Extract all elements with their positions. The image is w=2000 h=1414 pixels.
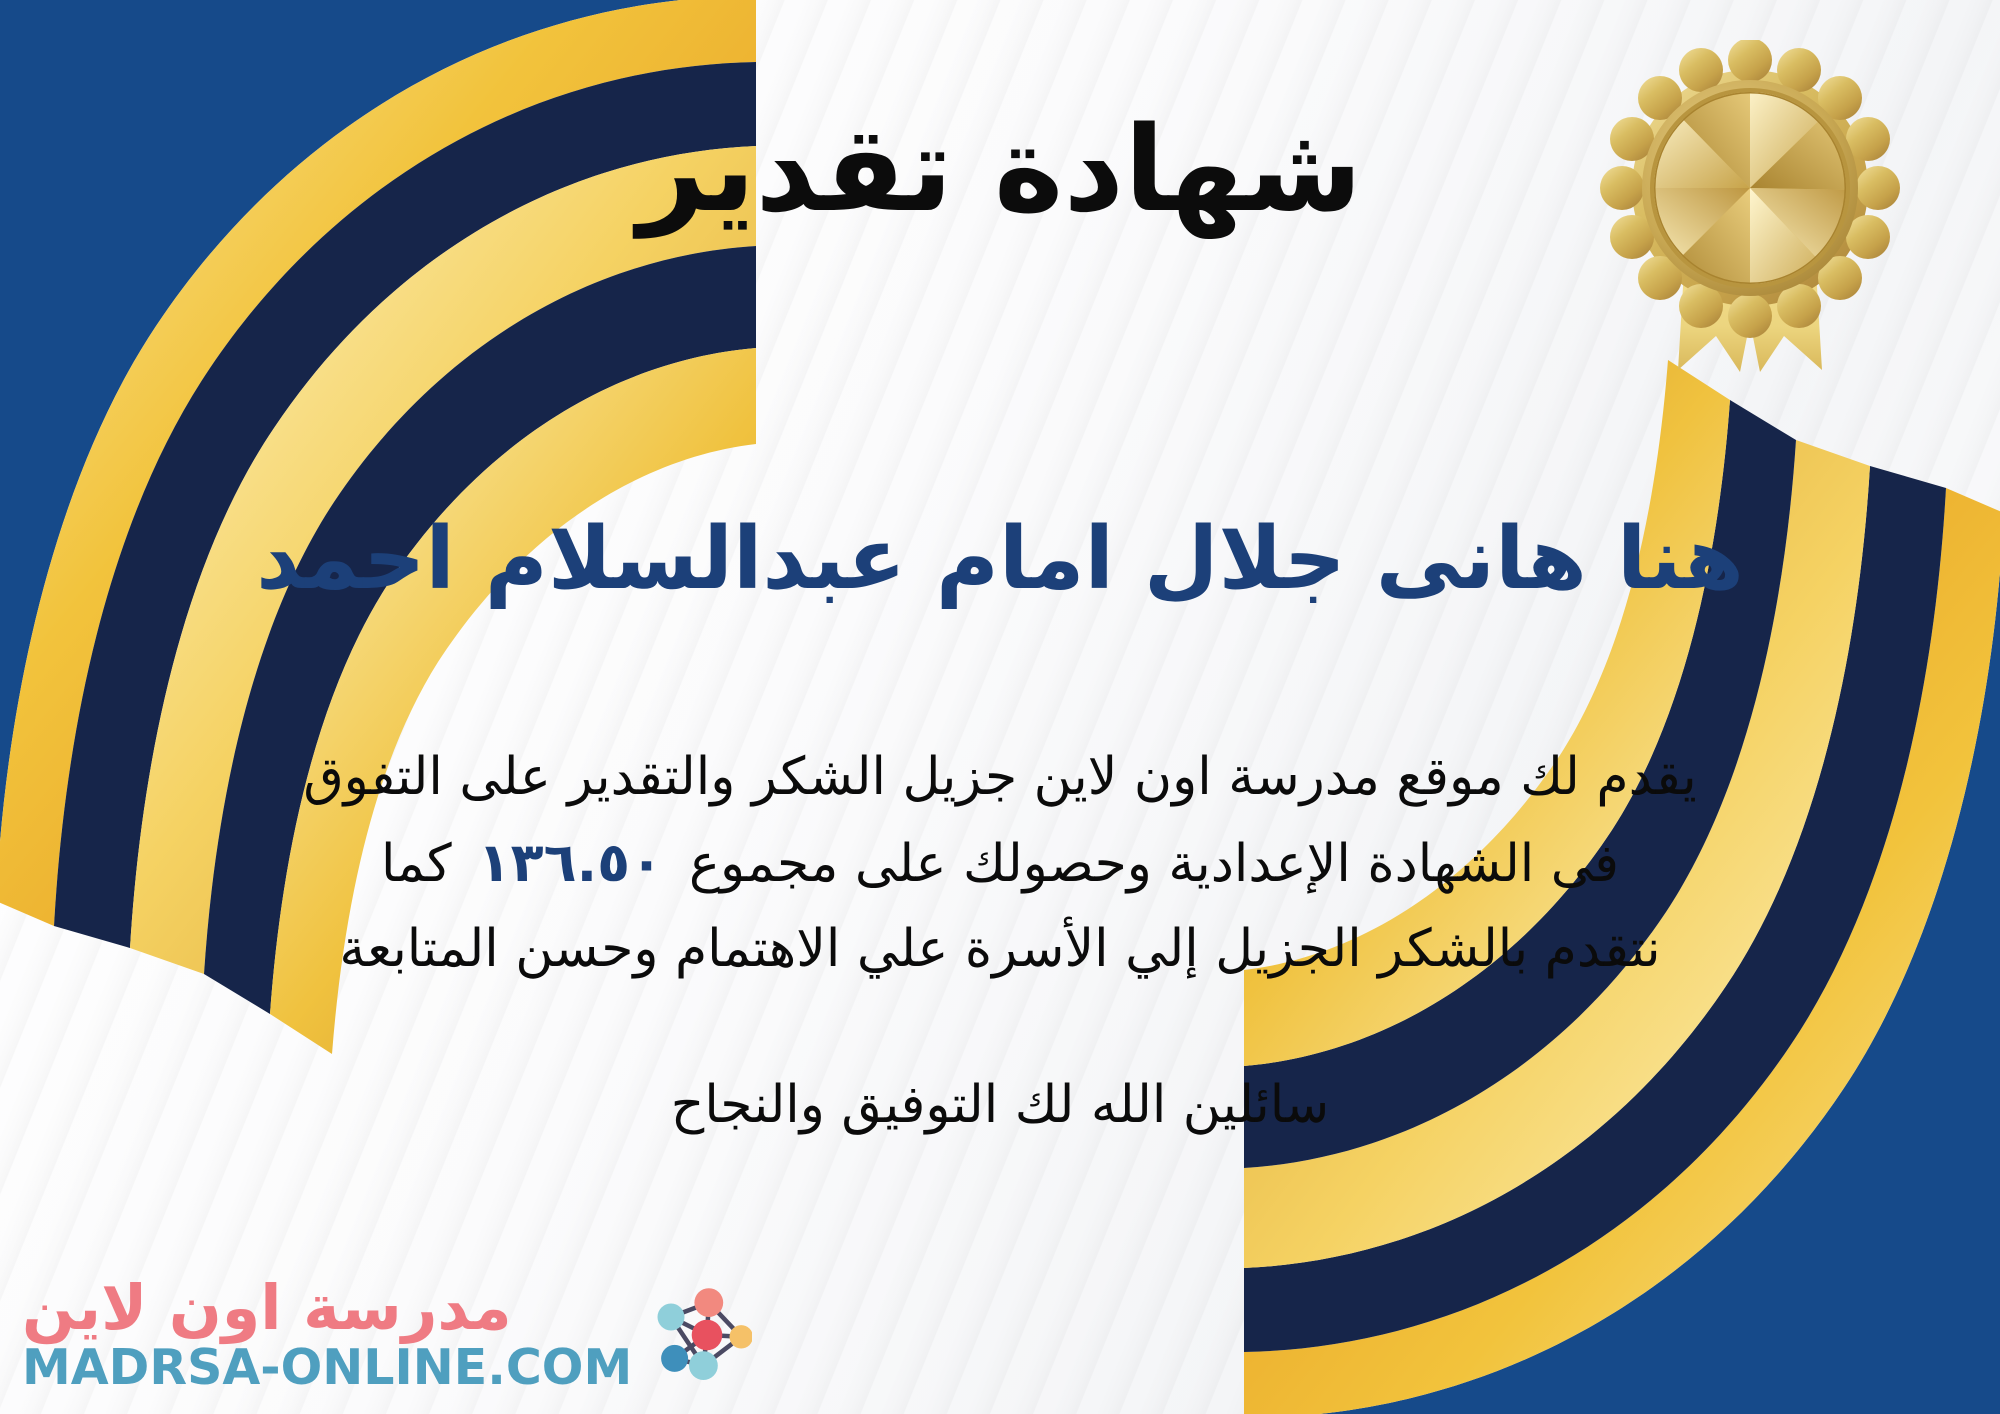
body-line-2-left: كما: [381, 834, 452, 894]
page-title: شهادة تقدير: [0, 110, 2000, 228]
body-line-2: فى الشهادة الإعدادية وحصولك على مجموع١٣٦…: [120, 819, 1880, 906]
certificate-content: شهادة تقدير هنا هانى جلال امام عبدالسلام…: [0, 0, 2000, 1414]
recipient-name: هنا هانى جلال امام عبدالسلام احمد: [0, 512, 2000, 607]
body-line-3: نتقدم بالشكر الجزيل إلي الأسرة علي الاهت…: [120, 907, 1880, 991]
body-line-2-right: فى الشهادة الإعدادية وحصولك على مجموع: [689, 834, 1619, 894]
brand-text: مدرسة اون لاين MADRSA-ONLINE.COM: [22, 1277, 632, 1392]
body-line-1: يقدم لك موقع مدرسة اون لاين جزيل الشكر و…: [120, 735, 1880, 819]
grade-total-value: ١٣٦.٥٠: [452, 831, 689, 894]
brand-website: MADRSA-ONLINE.COM: [22, 1343, 632, 1392]
network-nodes-icon: [644, 1281, 752, 1389]
certificate-body: يقدم لك موقع مدرسة اون لاين جزيل الشكر و…: [120, 735, 1880, 991]
closing-wish: سائلين الله لك التوفيق والنجاح: [0, 1075, 2000, 1135]
brand-logo[interactable]: مدرسة اون لاين MADRSA-ONLINE.COM: [22, 1277, 752, 1392]
certificate-canvas: شهادة تقدير هنا هانى جلال امام عبدالسلام…: [0, 0, 2000, 1414]
brand-name-arabic: مدرسة اون لاين: [22, 1277, 512, 1339]
